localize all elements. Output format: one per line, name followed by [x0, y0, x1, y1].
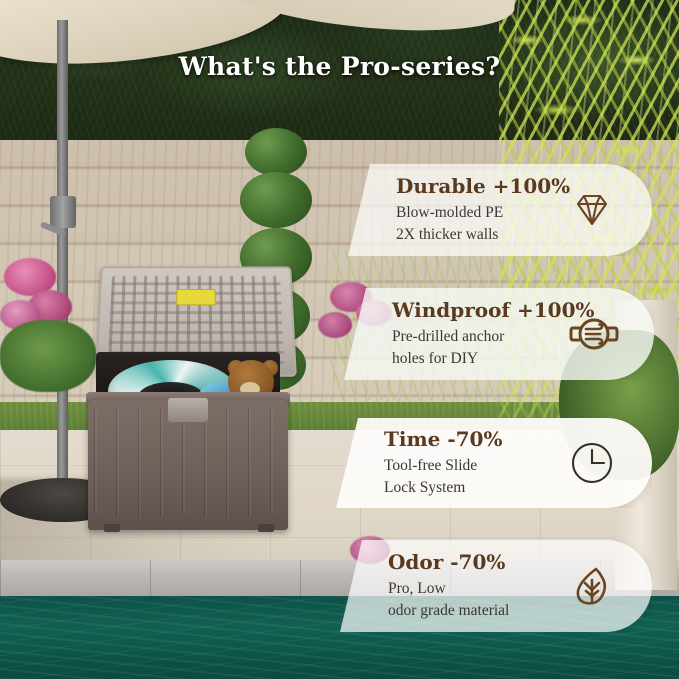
deck-box-foot-right	[258, 524, 274, 532]
feature-line-1: Blow-molded PE	[396, 202, 570, 223]
feature-line-2: odor grade material	[388, 600, 509, 621]
feature-panel-time: Time -70% Tool-free Slide Lock System	[336, 418, 652, 508]
deck-box-slide-lock	[168, 398, 208, 422]
feature-panel-odor: Odor -70% Pro, Low odor grade material	[340, 540, 652, 632]
feature-heading: Odor -70%	[388, 551, 509, 573]
wind-circle-icon	[568, 308, 620, 360]
leaf-icon	[566, 560, 618, 612]
feature-heading: Durable +100%	[396, 175, 570, 197]
umbrella-pole	[57, 20, 68, 490]
product-feature-image: What's the Pro-series? Durable +100% Blo…	[0, 0, 679, 679]
deck-box-foot-left	[104, 524, 120, 532]
page-title: What's the Pro-series?	[0, 52, 679, 81]
flower-cluster-foliage-left	[0, 320, 96, 392]
panel-text-block: Odor -70% Pro, Low odor grade material	[340, 551, 509, 621]
feature-line-1: Tool-free Slide	[384, 455, 502, 476]
feature-panel-windproof: Windproof +100% Pre-drilled anchor holes…	[344, 288, 654, 380]
feature-heading: Windproof +100%	[392, 299, 595, 321]
feature-panel-durable: Durable +100% Blow-molded PE 2X thicker …	[348, 164, 652, 256]
feature-line-2: holes for DIY	[392, 348, 595, 369]
topiary-ball-2	[240, 172, 312, 228]
feature-line-1: Pro, Low	[388, 578, 509, 599]
feature-line-1: Pre-drilled anchor	[392, 326, 595, 347]
panel-text-block: Durable +100% Blow-molded PE 2X thicker …	[348, 175, 570, 245]
lid-warning-label	[176, 289, 216, 305]
clock-icon	[566, 437, 618, 489]
panel-text-block: Windproof +100% Pre-drilled anchor holes…	[344, 299, 595, 369]
topiary-ball-1	[245, 128, 307, 176]
feature-line-2: 2X thicker walls	[396, 224, 570, 245]
feature-heading: Time -70%	[384, 428, 502, 450]
panel-text-block: Time -70% Tool-free Slide Lock System	[336, 428, 502, 498]
diamond-icon	[566, 184, 618, 236]
feature-line-2: Lock System	[384, 477, 502, 498]
umbrella-clamp	[50, 196, 76, 228]
